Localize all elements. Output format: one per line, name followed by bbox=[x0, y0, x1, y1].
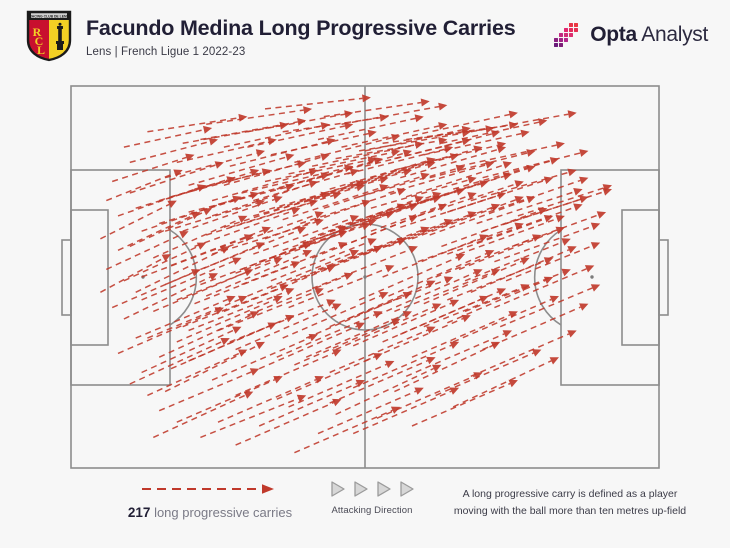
pitch-svg bbox=[0, 78, 730, 478]
carry-arrowhead bbox=[579, 177, 588, 185]
carry-arrow bbox=[483, 196, 589, 232]
carry-arrowhead bbox=[309, 180, 318, 188]
carry-arrowhead bbox=[238, 114, 247, 122]
carry-arrow bbox=[200, 395, 306, 438]
carry-arrow bbox=[112, 154, 194, 182]
carry-arrowhead bbox=[244, 392, 253, 399]
left-goal-area bbox=[71, 210, 108, 345]
carry-arrowhead bbox=[544, 177, 553, 185]
attacking-direction-label: Attacking Direction bbox=[318, 505, 426, 516]
carry-arrow bbox=[100, 201, 176, 239]
carry-arrowhead bbox=[538, 118, 547, 126]
right-penalty-area bbox=[561, 170, 659, 385]
carry-arrow bbox=[230, 299, 336, 342]
carry-arrow bbox=[377, 269, 483, 315]
rc-lens-crest-icon: RACING CLUB DE LENS R C L bbox=[26, 10, 72, 62]
carry-arrow bbox=[195, 261, 301, 304]
right-goal bbox=[659, 240, 668, 315]
carry-arrow bbox=[159, 169, 259, 201]
carry-arrow bbox=[477, 204, 583, 243]
carry-arrow bbox=[130, 208, 212, 246]
carry-arrow bbox=[106, 170, 182, 201]
carry-arrowhead bbox=[380, 114, 389, 122]
carry-arrow bbox=[136, 296, 236, 338]
carry-arrow bbox=[471, 110, 577, 132]
carry-arrow bbox=[318, 388, 424, 434]
carry-arrow bbox=[365, 211, 477, 254]
carry-arrowhead bbox=[415, 114, 424, 122]
carry-arrow bbox=[306, 311, 412, 357]
carry-arrowhead bbox=[503, 161, 512, 169]
carry-arrow bbox=[142, 327, 242, 373]
carry-arrowhead bbox=[591, 223, 600, 231]
carry-arrowhead bbox=[573, 204, 582, 212]
svg-text:RACING CLUB DE LENS: RACING CLUB DE LENS bbox=[29, 14, 69, 18]
opta-carry-map-page: RACING CLUB DE LENS R C L Facundo Medina bbox=[0, 0, 730, 548]
opta-brand-light: Analyst bbox=[641, 23, 708, 46]
carry-arrowhead bbox=[597, 211, 606, 219]
carry-arrow bbox=[336, 137, 448, 159]
carry-arrow bbox=[330, 281, 436, 327]
carry-arrow bbox=[147, 114, 247, 132]
carry-arrow bbox=[494, 265, 594, 308]
carry-arrowhead bbox=[291, 207, 300, 215]
carry-arrowhead bbox=[256, 149, 265, 157]
direction-triangle-icon-2 bbox=[352, 480, 369, 498]
direction-triangle-icon-4 bbox=[398, 480, 415, 498]
carry-arrow bbox=[206, 250, 312, 296]
carry-arrow bbox=[212, 334, 318, 380]
carry-arrowhead bbox=[556, 141, 565, 149]
carry-arrowhead bbox=[591, 242, 600, 249]
carry-arrowhead bbox=[514, 223, 523, 231]
carry-arrowhead bbox=[179, 231, 188, 238]
carry-arrow bbox=[412, 380, 518, 426]
pitch-visualization bbox=[0, 78, 730, 478]
carry-arrow bbox=[159, 368, 259, 410]
carry-arrowhead bbox=[262, 227, 271, 235]
svg-text:L: L bbox=[37, 43, 45, 57]
carry-arrowhead bbox=[497, 192, 506, 200]
carry-arrow bbox=[153, 392, 253, 438]
carry-arrowhead bbox=[215, 161, 224, 169]
page-title: Facundo Medina Long Progressive Carries bbox=[86, 17, 515, 40]
header: RACING CLUB DE LENS R C L Facundo Medina bbox=[0, 0, 730, 78]
carry-arrow bbox=[259, 323, 365, 369]
carry-arrowhead bbox=[514, 180, 523, 188]
opta-pixel-mark-icon bbox=[553, 20, 583, 50]
carry-arrow bbox=[265, 94, 371, 109]
carry-arrow bbox=[459, 141, 565, 166]
page-subtitle: Lens | French Ligue 1 2022-23 bbox=[86, 46, 515, 58]
legend-carries: 217 long progressive carries bbox=[110, 482, 310, 520]
carry-arrowhead bbox=[232, 327, 241, 334]
carry-arrowhead bbox=[497, 146, 506, 154]
right-penalty-spot bbox=[590, 275, 593, 278]
carry-arrowhead bbox=[273, 196, 282, 204]
carry-arrowhead bbox=[344, 110, 353, 118]
carry-arrowhead bbox=[197, 243, 206, 250]
carry-arrow bbox=[465, 269, 571, 312]
carry-arrow bbox=[247, 250, 359, 296]
carry-arrowhead bbox=[344, 122, 353, 130]
opta-wordmark: Opta Analyst bbox=[590, 23, 708, 47]
definition-line-1: A long progressive carry is defined as a… bbox=[426, 486, 714, 503]
carry-arrowhead bbox=[256, 342, 265, 349]
carry-arrow bbox=[200, 118, 306, 140]
direction-triangle-icon-1 bbox=[329, 480, 346, 498]
carry-arrow bbox=[153, 216, 247, 258]
carry-arrow bbox=[353, 388, 459, 434]
carry-arrow bbox=[400, 146, 506, 178]
carry-arrowhead bbox=[309, 199, 318, 207]
carry-arrowhead bbox=[280, 122, 289, 130]
carry-arrow bbox=[377, 372, 483, 418]
carry-arrowhead bbox=[368, 130, 377, 138]
right-goal-area bbox=[622, 210, 659, 345]
carry-arrow bbox=[289, 265, 395, 308]
legend-dashed-arrow-icon bbox=[140, 482, 280, 496]
carry-arrowhead bbox=[579, 149, 588, 157]
carry-arrow bbox=[330, 357, 436, 403]
title-block: Facundo Medina Long Progressive Carries … bbox=[86, 17, 515, 58]
direction-triangle-row bbox=[318, 480, 426, 498]
carry-arrowhead bbox=[350, 169, 359, 177]
carry-arrow bbox=[236, 303, 342, 349]
carry-arrow bbox=[259, 380, 365, 426]
carry-arrow bbox=[247, 122, 353, 147]
carries-label-text: long progressive carries bbox=[154, 505, 292, 520]
carries-count: 217 bbox=[128, 505, 151, 520]
carry-arrowhead bbox=[521, 130, 530, 138]
legend: 217 long progressive carries Attacking bbox=[0, 478, 730, 548]
opta-brand-bold: Opta bbox=[590, 23, 637, 46]
carry-arrowhead bbox=[303, 106, 312, 114]
carry-arrowhead bbox=[573, 188, 582, 196]
carry-arrowhead bbox=[509, 111, 518, 119]
carry-arrowhead bbox=[191, 212, 200, 219]
carry-arrow bbox=[165, 342, 265, 392]
carry-arrow bbox=[124, 126, 212, 147]
carry-arrowhead bbox=[209, 138, 218, 146]
carry-arrow bbox=[177, 296, 283, 342]
carry-arrowhead bbox=[421, 99, 430, 107]
carry-arrow bbox=[130, 338, 230, 384]
carry-arrowhead bbox=[285, 153, 294, 161]
carry-arrowhead bbox=[315, 211, 324, 219]
carry-arrowhead bbox=[438, 103, 447, 111]
carry-arrowhead bbox=[568, 110, 577, 118]
carry-arrow bbox=[130, 138, 218, 163]
carry-arrow bbox=[124, 273, 218, 319]
carry-arrowhead bbox=[203, 126, 212, 134]
left-goal bbox=[62, 240, 71, 315]
opta-analyst-logo: Opta Analyst bbox=[553, 20, 708, 50]
carry-arrow bbox=[218, 376, 324, 422]
carry-arrow bbox=[177, 376, 283, 422]
carry-arrow bbox=[336, 365, 442, 415]
definition-line-2: moving with the ball more than ten metre… bbox=[426, 503, 714, 520]
carry-arrowhead bbox=[238, 350, 247, 357]
legend-definition: A long progressive carry is defined as a… bbox=[426, 486, 714, 521]
direction-triangle-icon-3 bbox=[375, 480, 392, 498]
carry-arrow bbox=[418, 223, 524, 262]
carry-arrow bbox=[447, 215, 553, 254]
carry-arrow bbox=[294, 407, 400, 453]
carry-arrow bbox=[236, 399, 342, 445]
legend-carries-label: 217 long progressive carries bbox=[110, 505, 310, 520]
carry-arrowhead bbox=[362, 94, 371, 102]
centre-spot bbox=[363, 275, 366, 278]
legend-attacking-direction: Attacking Direction bbox=[318, 480, 426, 516]
